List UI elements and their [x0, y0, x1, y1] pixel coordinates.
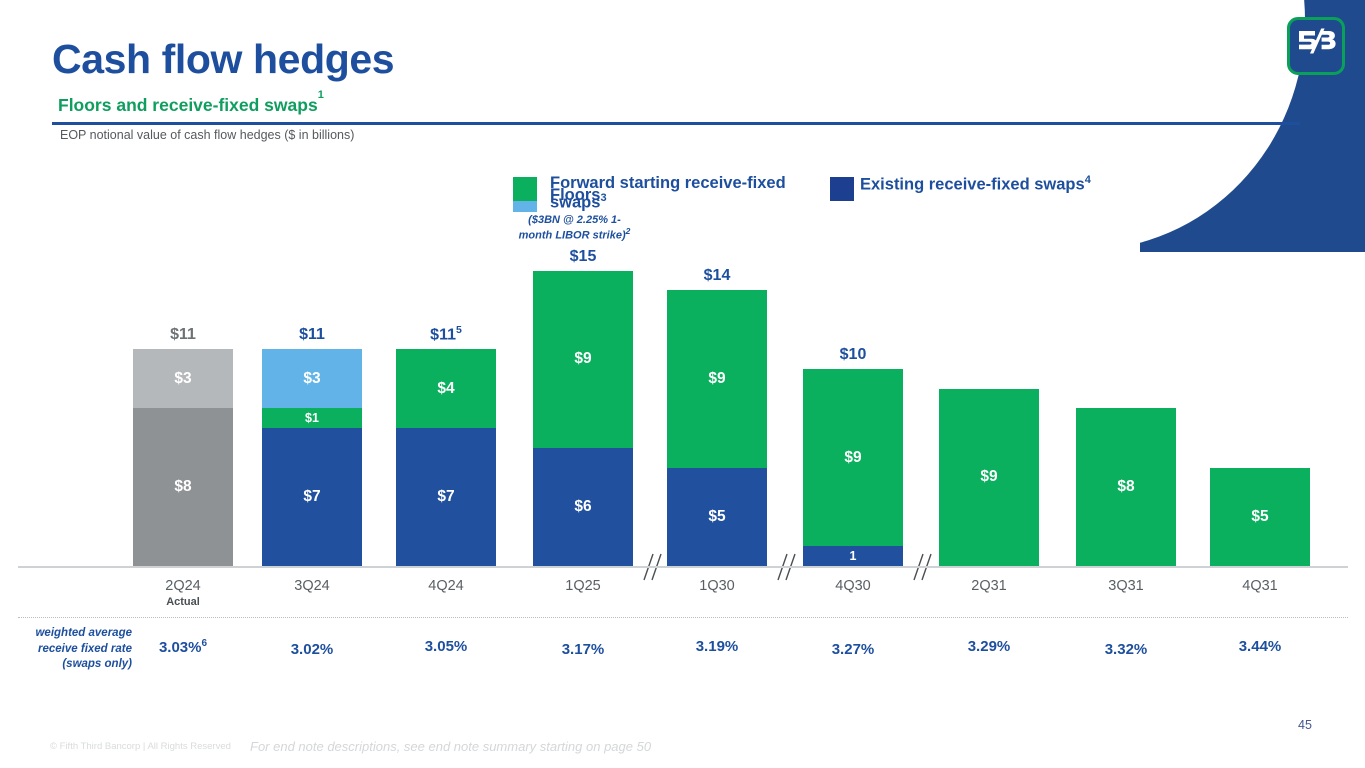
x-axis-label-4q24: 4Q24 [396, 578, 496, 594]
bar-group[interactable]: $8 [1076, 408, 1176, 566]
bar-total-label: $115 [430, 324, 462, 344]
bar-segment-label: $8 [174, 478, 191, 496]
bar-segment[interactable]: $5 [1210, 468, 1310, 567]
bar-total-label: $10 [840, 346, 867, 364]
bar-segment-label: 1 [850, 549, 857, 563]
x-axis-label-3q31: 3Q31 [1076, 578, 1176, 594]
bar-segment[interactable]: $9 [667, 290, 767, 467]
bar-segment[interactable]: $8 [1076, 408, 1176, 566]
bar-segment[interactable]: $8 [133, 408, 233, 566]
bar-segment[interactable]: $9 [803, 369, 903, 546]
x-axis-label-1q25: 1Q25 [533, 578, 633, 594]
bar-total-label: $11 [170, 326, 196, 344]
x-axis-label-text: 4Q30 [835, 578, 870, 594]
chart-plot-area: $8$3$112Q24Actual3.03%6$7$1$3$113Q243.02… [0, 0, 1365, 768]
rate-row-divider [18, 617, 1348, 618]
rate-value-text: 3.02% [291, 641, 334, 658]
endnote-reference: For end note descriptions, see end note … [250, 739, 651, 754]
x-axis-label-text: 3Q31 [1108, 578, 1143, 594]
bar-segment-label: $1 [305, 411, 319, 425]
bar-segment[interactable]: $7 [396, 428, 496, 566]
copyright-text: © Fifth Third Bancorp | All Rights Reser… [50, 741, 231, 752]
rate-row-label-line3: (swaps only) [62, 658, 132, 670]
bar-group[interactable]: $6$9$15 [533, 271, 633, 567]
rate-value: 3.32% [1076, 641, 1176, 658]
page-number: 45 [1298, 718, 1312, 732]
bar-segment[interactable]: $1 [262, 408, 362, 428]
bar-segment[interactable]: $4 [396, 349, 496, 428]
x-axis-label-2q31: 2Q31 [939, 578, 1039, 594]
bar-segment-label: $5 [708, 508, 725, 526]
bar-segment-label: $7 [303, 488, 320, 506]
bar-segment-label: $9 [844, 449, 861, 467]
rate-value: 3.19% [667, 638, 767, 655]
bar-segment[interactable]: 1 [803, 546, 903, 566]
bar-group[interactable]: $5$9$14 [667, 290, 767, 566]
x-axis-label-1q30: 1Q30 [667, 578, 767, 594]
bar-group[interactable]: $8$3$11 [133, 349, 233, 566]
bar-segment[interactable]: $7 [262, 428, 362, 566]
x-axis-label-4q30: 4Q30 [803, 578, 903, 594]
bar-segment-label: $6 [574, 498, 591, 516]
rate-value: 3.02% [262, 641, 362, 658]
x-axis-label-3q24: 3Q24 [262, 578, 362, 594]
bar-group[interactable]: $9 [939, 389, 1039, 566]
bar-total-label: $14 [704, 267, 731, 285]
rate-value: 3.44% [1210, 638, 1310, 655]
rate-value-footnote: 6 [201, 638, 207, 649]
rate-value: 3.27% [803, 641, 903, 658]
x-axis-label-2q24: 2Q24Actual [133, 578, 233, 608]
bar-segment[interactable]: $5 [667, 468, 767, 567]
bar-group[interactable]: $7$4$115 [396, 349, 496, 566]
bar-segment[interactable]: $9 [533, 271, 633, 448]
rate-value-text: 3.19% [696, 638, 739, 655]
bar-segment-label: $9 [980, 468, 997, 486]
axis-break-mark [772, 552, 806, 586]
rate-value: 3.29% [939, 638, 1039, 655]
rate-value: 3.17% [533, 641, 633, 658]
x-axis-label-4q31: 4Q31 [1210, 578, 1310, 594]
rate-value-text: 3.32% [1105, 641, 1148, 658]
rate-row-label-line1: weighted average [35, 627, 132, 639]
bar-segment-label: $8 [1117, 478, 1134, 496]
rate-row-label-line2: receive fixed rate [38, 643, 132, 655]
bar-total-footnote: 5 [456, 324, 462, 336]
rate-value-text: 3.44% [1239, 638, 1282, 655]
bar-total-label: $11 [299, 326, 325, 344]
bar-group[interactable]: $7$1$3$11 [262, 349, 362, 566]
x-axis-label-text: 4Q31 [1242, 578, 1277, 594]
bar-segment-label: $5 [1251, 508, 1268, 526]
bar-segment[interactable]: $6 [533, 448, 633, 566]
bar-segment-label: $3 [303, 370, 320, 388]
bar-segment[interactable]: $3 [262, 349, 362, 408]
rate-value-text: 3.27% [832, 641, 875, 658]
bar-group[interactable]: $5 [1210, 468, 1310, 567]
rate-value-text: 3.29% [968, 638, 1011, 655]
slide: Cash flow hedges Floors and receive-fixe… [0, 0, 1365, 768]
rate-value-text: 3.03% [159, 639, 202, 656]
bar-group[interactable]: 1$9$10 [803, 369, 903, 566]
bar-segment-label: $7 [437, 488, 454, 506]
bar-segment-label: $3 [174, 370, 191, 388]
bar-segment-label: $9 [574, 350, 591, 368]
x-axis-label-text: 4Q24 [428, 578, 463, 594]
rate-value-text: 3.17% [562, 641, 605, 658]
axis-break-mark [638, 552, 672, 586]
rate-value: 3.03%6 [133, 638, 233, 656]
x-axis-label-text: 3Q24 [294, 578, 329, 594]
axis-break-mark [908, 552, 942, 586]
rate-row-label: weighted average receive fixed rate (swa… [14, 626, 132, 673]
bar-segment[interactable]: $9 [939, 389, 1039, 566]
x-axis-label-text: 1Q30 [699, 578, 734, 594]
x-axis-label-text: 1Q25 [565, 578, 600, 594]
rate-value: 3.05% [396, 638, 496, 655]
x-axis-label-text: 2Q24 [165, 578, 200, 594]
x-axis-sublabel: Actual [133, 596, 233, 608]
bar-total-label: $15 [570, 248, 597, 266]
bar-segment-label: $4 [437, 380, 454, 398]
x-axis-line [18, 566, 1348, 568]
x-axis-label-text: 2Q31 [971, 578, 1006, 594]
bar-segment-label: $9 [708, 370, 725, 388]
rate-value-text: 3.05% [425, 638, 468, 655]
bar-segment[interactable]: $3 [133, 349, 233, 408]
